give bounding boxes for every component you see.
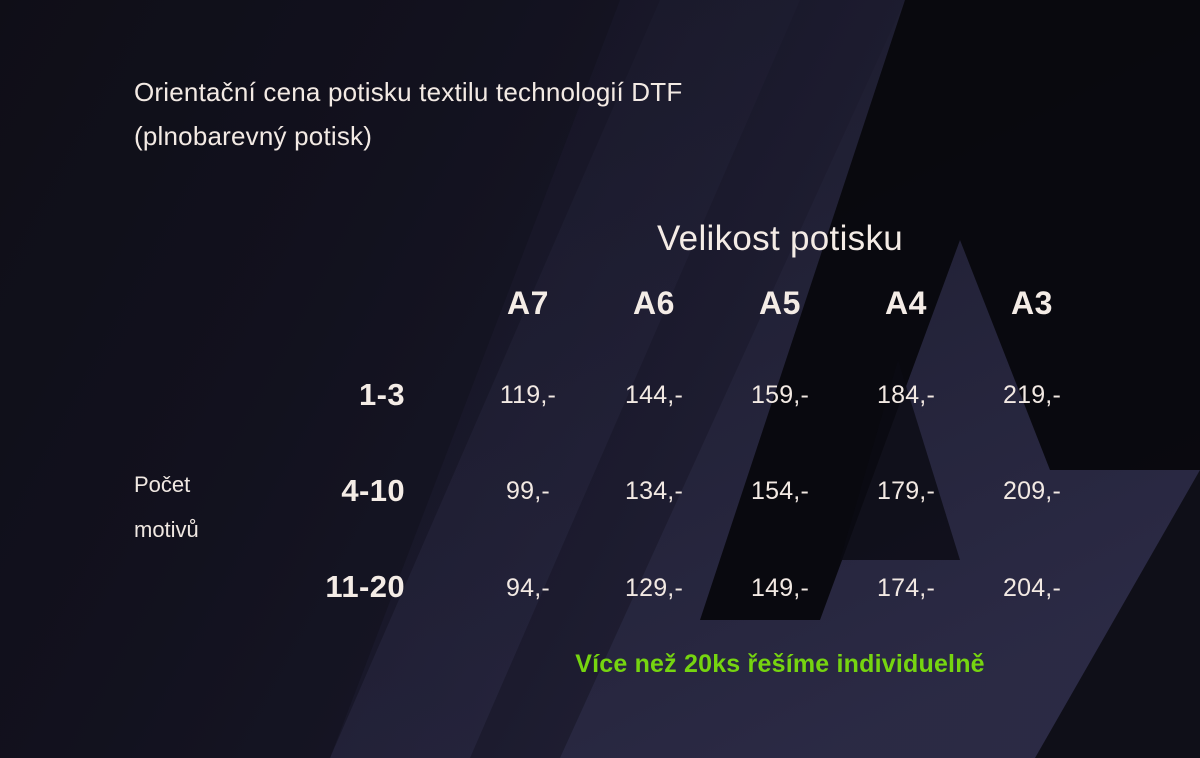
column-group-title: Velikost potisku <box>465 219 1095 259</box>
bulk-order-note: Více než 20ks řešíme individuelně <box>465 650 1095 679</box>
cell-1-3-a4: 184,- <box>843 381 969 410</box>
cell-11-20-a3: 204,- <box>969 574 1095 603</box>
column-header-a4: A4 <box>843 285 969 322</box>
cell-11-20-a4: 174,- <box>843 574 969 603</box>
table-row: 119,- 144,- 159,- 184,- 219,- <box>465 381 1095 410</box>
row-header-4-10: 4-10 <box>175 473 405 509</box>
price-table-graphic: Orientační cena potisku textilu technolo… <box>0 0 1200 758</box>
column-header-a5: A5 <box>717 285 843 322</box>
cell-4-10-a6: 134,- <box>591 477 717 506</box>
row-header-11-20: 11-20 <box>175 569 405 605</box>
cell-11-20-a5: 149,- <box>717 574 843 603</box>
row-group-title-line-2: motivů <box>134 507 284 552</box>
table-row: 94,- 129,- 149,- 174,- 204,- <box>465 574 1095 603</box>
table-row: 99,- 134,- 154,- 179,- 209,- <box>465 477 1095 506</box>
row-header-1-3: 1-3 <box>175 377 405 413</box>
table-header-row: A7 A6 A5 A4 A3 <box>465 285 1095 322</box>
column-header-a3: A3 <box>969 285 1095 322</box>
cell-4-10-a5: 154,- <box>717 477 843 506</box>
cell-4-10-a7: 99,- <box>465 477 591 506</box>
cell-4-10-a3: 209,- <box>969 477 1095 506</box>
cell-1-3-a6: 144,- <box>591 381 717 410</box>
page-title-line-1: Orientační cena potisku textilu technolo… <box>134 70 854 114</box>
cell-1-3-a3: 219,- <box>969 381 1095 410</box>
cell-4-10-a4: 179,- <box>843 477 969 506</box>
column-header-a6: A6 <box>591 285 717 322</box>
column-header-a7: A7 <box>465 285 591 322</box>
cell-11-20-a7: 94,- <box>465 574 591 603</box>
page-title-line-2: (plnobarevný potisk) <box>134 114 854 158</box>
cell-1-3-a7: 119,- <box>465 381 591 410</box>
page-title: Orientační cena potisku textilu technolo… <box>134 70 854 158</box>
cell-11-20-a6: 129,- <box>591 574 717 603</box>
cell-1-3-a5: 159,- <box>717 381 843 410</box>
